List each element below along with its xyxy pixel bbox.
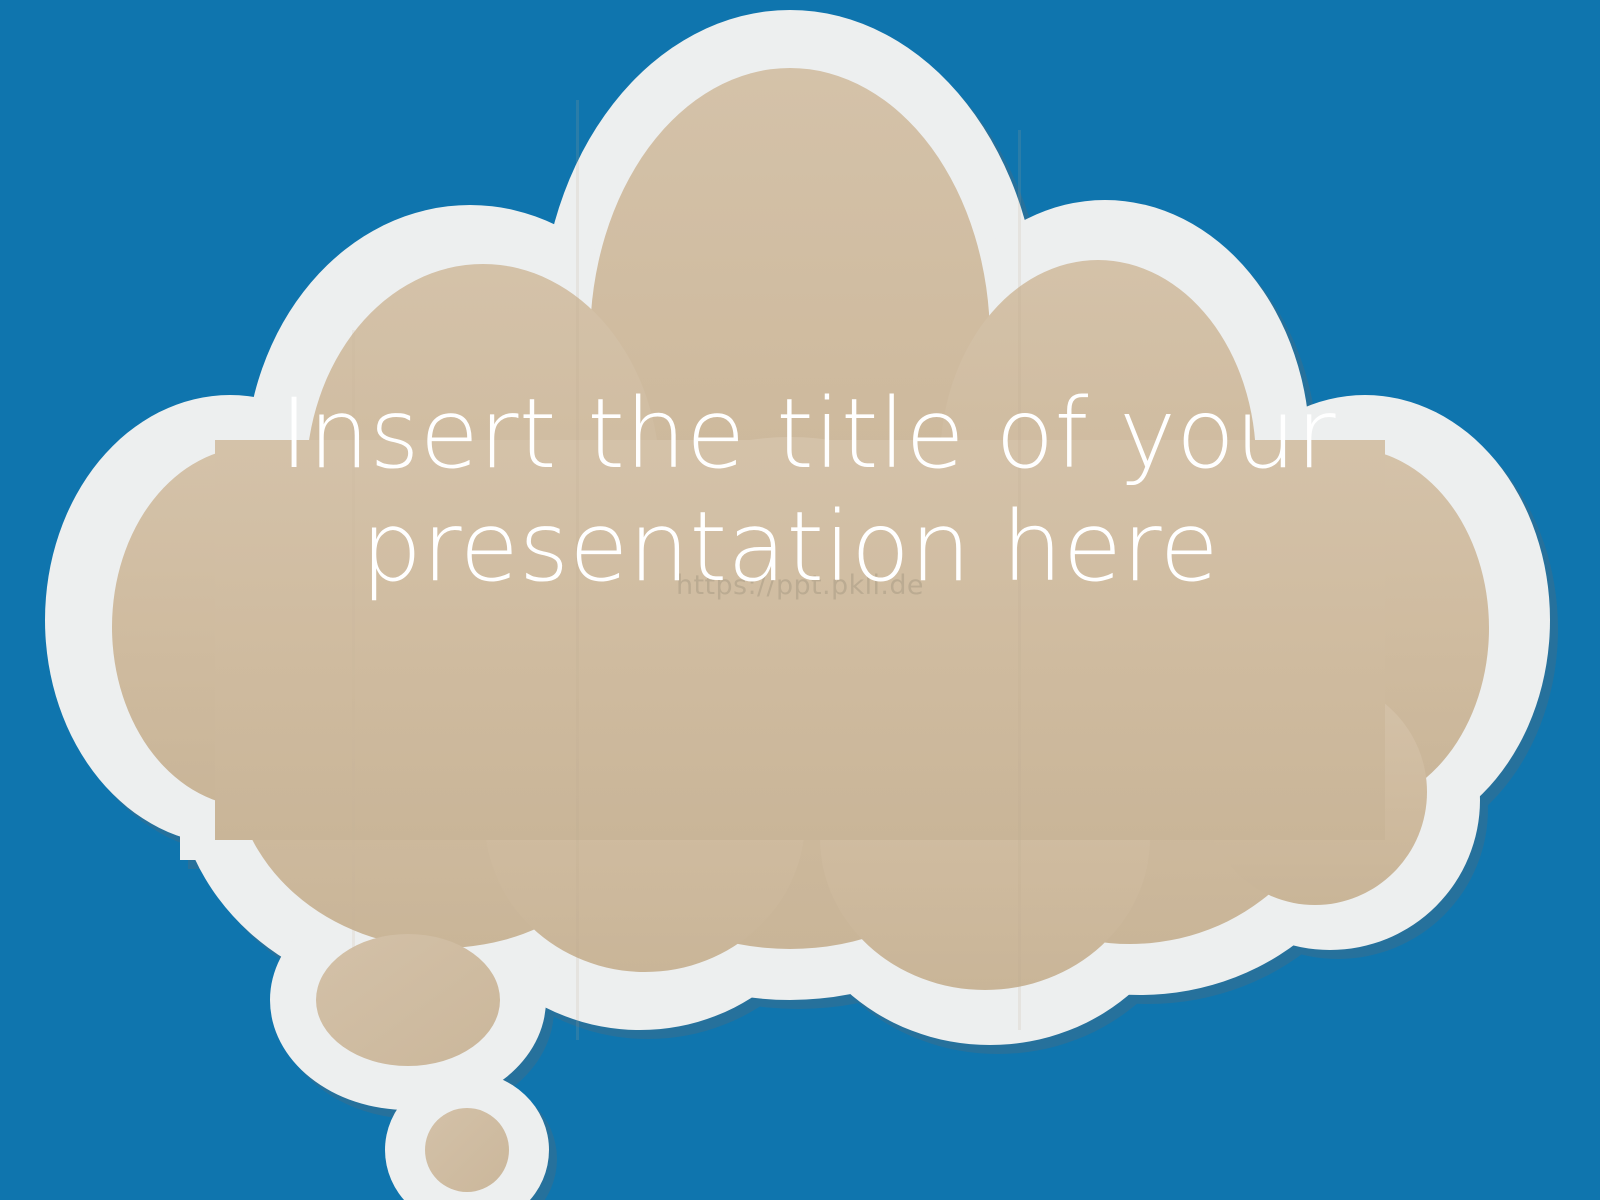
thought-bubble-cloud: [0, 0, 1600, 1200]
presentation-slide: Insert the title of your presentation he…: [0, 0, 1600, 1200]
